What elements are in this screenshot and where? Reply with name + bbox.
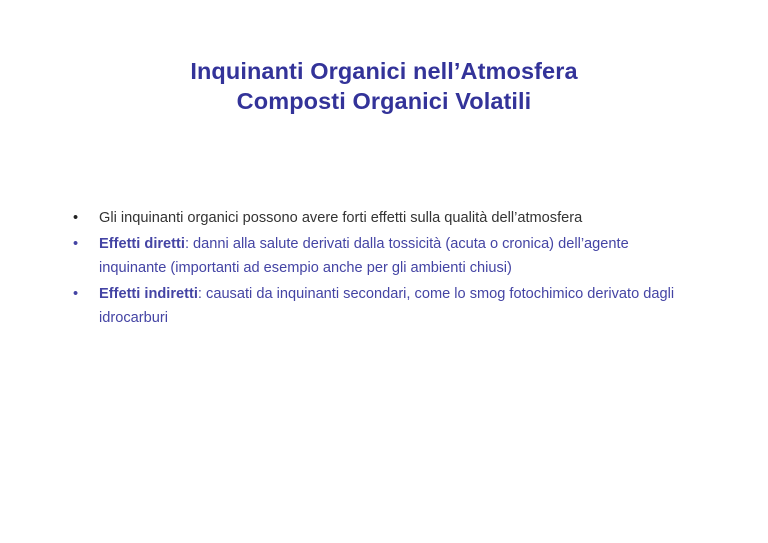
list-item: • Effetti indiretti: causati da inquinan…: [68, 282, 688, 330]
list-item: • Effetti diretti: danni alla salute der…: [68, 232, 688, 280]
bullet-point-icon: •: [73, 206, 78, 230]
list-item-content: Gli inquinanti organici possono avere fo…: [99, 206, 688, 230]
list-item-lead: Effetti indiretti: [99, 286, 198, 302]
bullet-point-icon: •: [73, 282, 78, 306]
title-line-1: Inquinanti Organici nell’Atmosfera: [0, 56, 768, 86]
list-item-lead: Effetti diretti: [99, 236, 185, 252]
list-item-text: Gli inquinanti organici possono avere fo…: [99, 210, 582, 226]
slide-canvas: Inquinanti Organici nell’Atmosfera Compo…: [0, 0, 768, 543]
bullet-list: • Gli inquinanti organici possono avere …: [68, 206, 688, 332]
title-line-2: Composti Organici Volatili: [0, 86, 768, 116]
list-item-content: Effetti diretti: danni alla salute deriv…: [99, 232, 688, 280]
page-title: Inquinanti Organici nell’Atmosfera Compo…: [0, 56, 768, 116]
bullet-point-icon: •: [73, 232, 78, 256]
list-item: • Gli inquinanti organici possono avere …: [68, 206, 688, 230]
list-item-content: Effetti indiretti: causati da inquinanti…: [99, 282, 688, 330]
